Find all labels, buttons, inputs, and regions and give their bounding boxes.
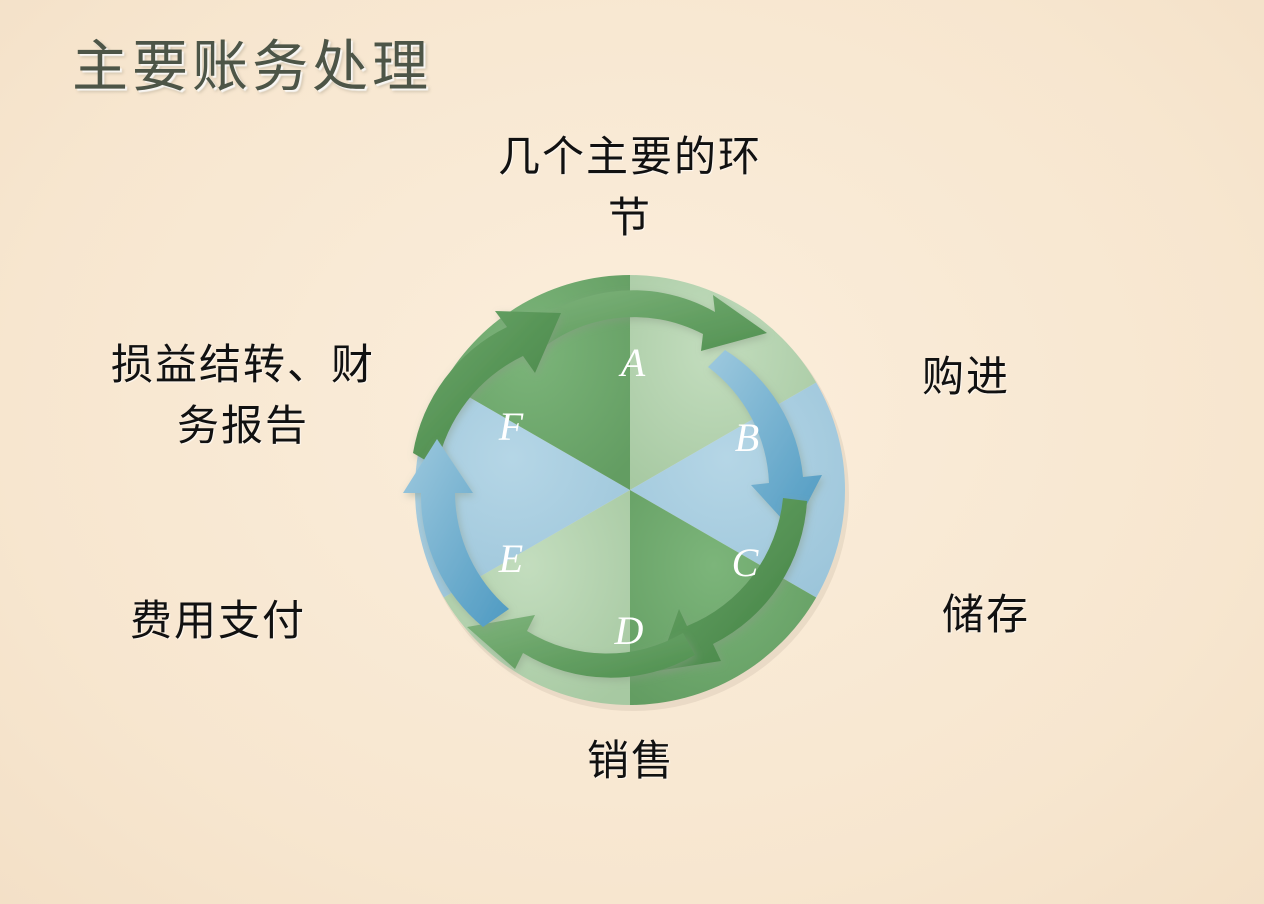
slide-canvas: 主要账务处理 几个主要的环 节 购进 储存 销售 费用支付 损益结转、财 务报告	[0, 0, 1264, 904]
diagram-label-purchase: 购进	[922, 348, 1010, 409]
cycle-diagram: A B C D E F	[395, 255, 875, 725]
diagram-label-expense-payment: 费用支付	[130, 592, 306, 653]
diagram-label-sales: 销售	[506, 732, 756, 793]
diagram-label-storage: 储存	[942, 586, 1030, 647]
wedge-letter-f: F	[498, 404, 524, 449]
page-title: 主要账务处理	[72, 22, 432, 103]
wedge-letter-e: E	[498, 536, 523, 581]
wedge-letter-a: A	[618, 340, 646, 385]
diagram-label-profit-loss-report: 损益结转、财 务报告	[78, 336, 408, 458]
wedge-letter-d: D	[614, 608, 644, 653]
wedge-letter-c: C	[732, 540, 760, 585]
wedge-letter-b: B	[735, 415, 759, 460]
diagram-label-top: 几个主要的环 节	[455, 128, 805, 250]
